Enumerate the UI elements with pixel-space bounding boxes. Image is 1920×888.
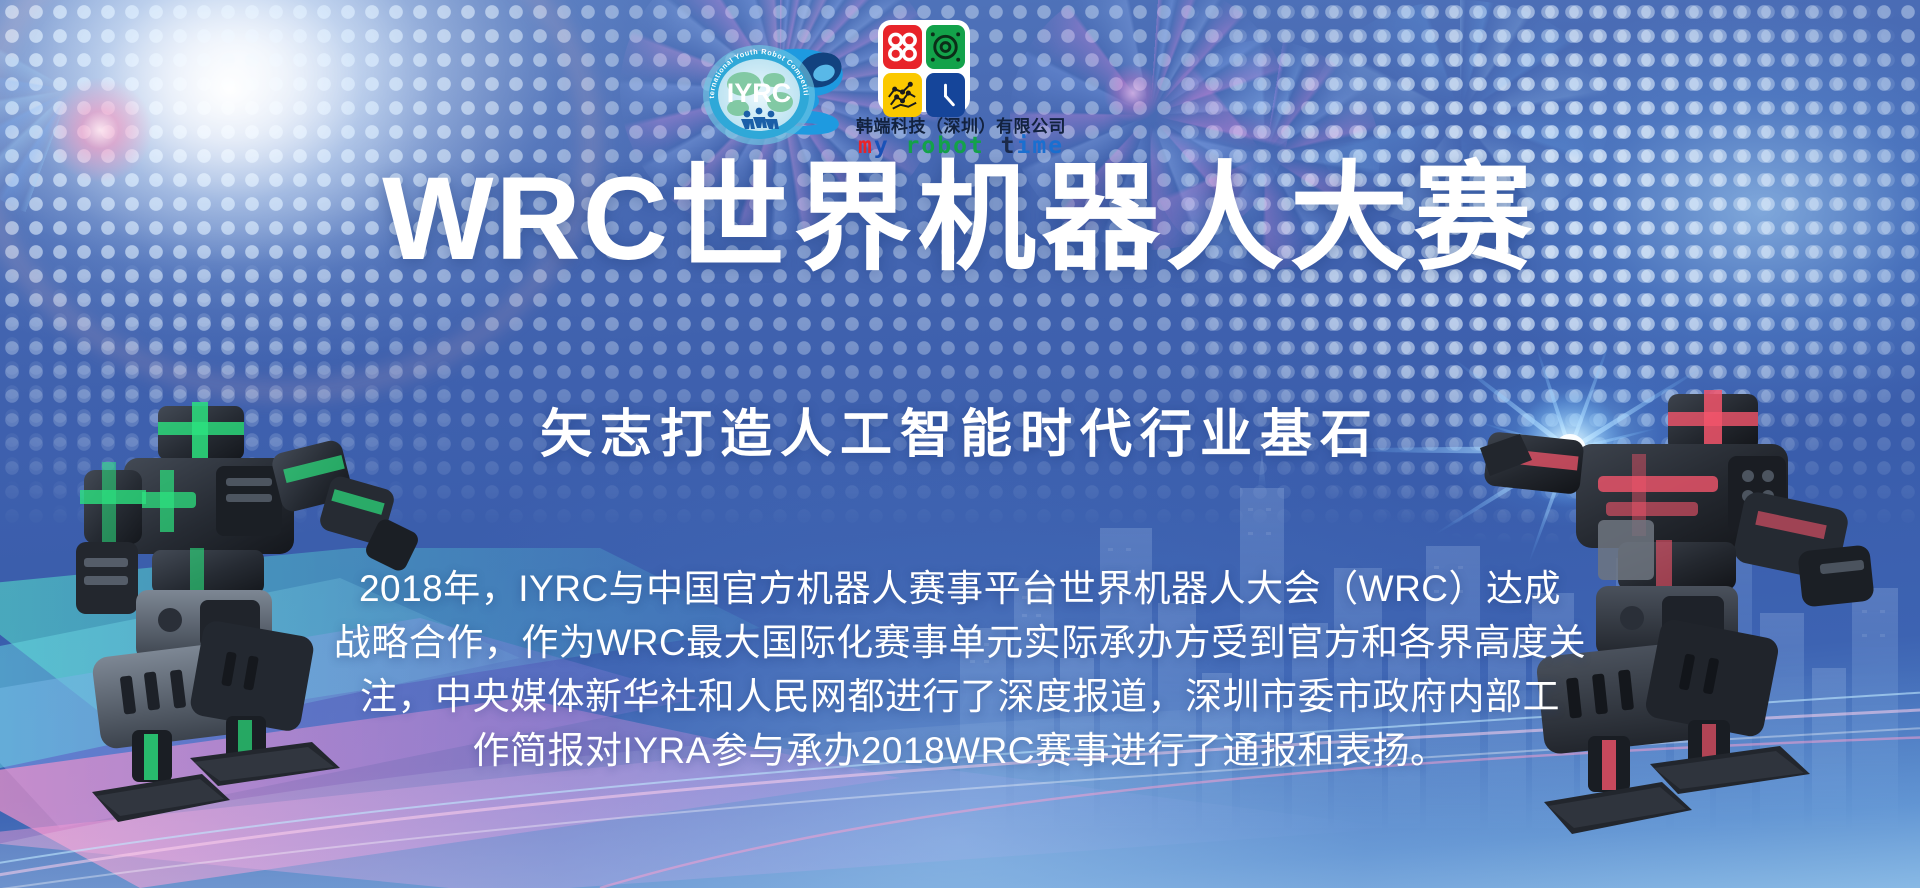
body-paragraph: 2018年，IYRC与中国官方机器人赛事平台世界机器人大会（WRC）达成 战略合… [295, 562, 1625, 778]
body-line: 战略合作，作为WRC最大国际化赛事单元实际承办方受到官方和各界高度关 [295, 616, 1625, 670]
circuit-board-tile-icon [883, 73, 922, 117]
four-dots-tile-icon [883, 25, 922, 69]
wrc-banner: IYRC International Youth Robot Competiti… [0, 0, 1920, 888]
iyrc-logo: IYRC International Youth Robot Competiti… [700, 40, 818, 146]
body-line: 作简报对IYRA参与承办2018WRC赛事进行了通报和表扬。 [295, 724, 1625, 778]
target-sensor-tile-icon [926, 25, 965, 69]
page-title: WRC世界机器人大赛 [0, 160, 1920, 278]
page-subtitle: 矢志打造人工智能时代行业基石 [0, 392, 1920, 467]
body-line: 注，中央媒体新华社和人民网都进行了深度报道，深圳市委市政府内部工 [295, 670, 1625, 724]
iyrc-acronym: IYRC [727, 78, 792, 108]
mrt-tile-grid [878, 20, 970, 112]
body-line: 2018年，IYRC与中国官方机器人赛事平台世界机器人大会（WRC）达成 [295, 562, 1625, 616]
clock-tile-icon [926, 73, 965, 117]
page-title-latin: WRC [382, 153, 670, 285]
page-title-chinese: 世界机器人大赛 [670, 153, 1538, 285]
logo-row: IYRC International Youth Robot Competiti… [0, 0, 1920, 160]
mrt-logo: 韩端科技（深圳）有限公司 my robot time [838, 20, 1084, 158]
